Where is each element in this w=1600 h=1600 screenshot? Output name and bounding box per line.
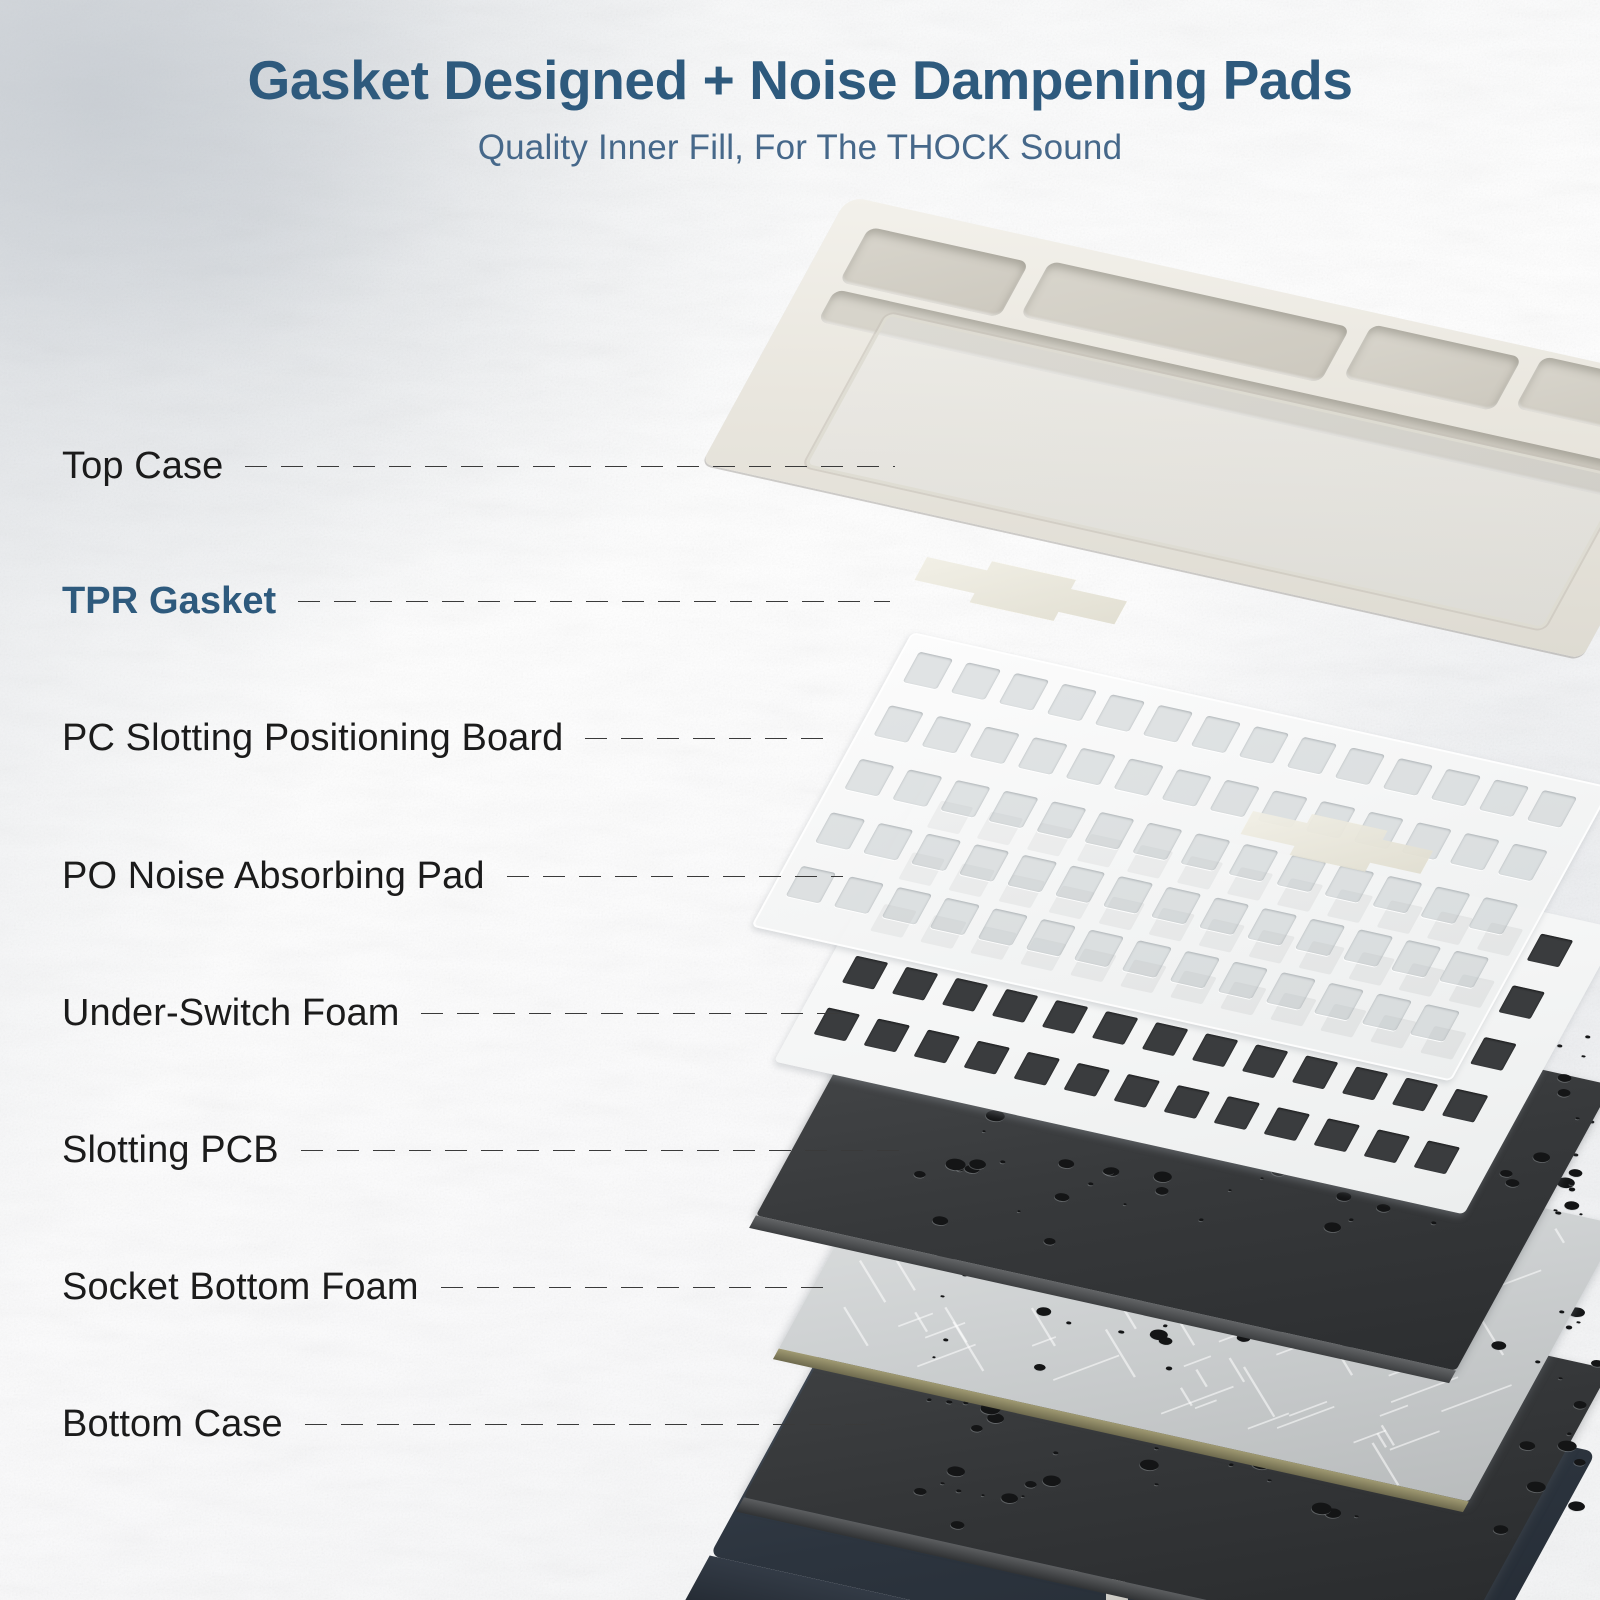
pcb-trace <box>1195 1369 1208 1387</box>
pcb-trace <box>1376 1433 1386 1448</box>
infographic-poster: Gasket Designed + Noise Dampening Pads Q… <box>0 0 1600 1600</box>
callout-label: Top Case <box>62 447 223 485</box>
switch-cutout <box>1132 822 1183 860</box>
switch-cutout <box>892 769 943 807</box>
switch-cutout <box>1449 833 1500 871</box>
callout-label: Socket Bottom Foam <box>62 1268 419 1306</box>
foam-hole <box>1566 1500 1587 1512</box>
callout-leader-line <box>585 738 828 739</box>
switch-cutout <box>1113 758 1164 796</box>
switch-cutout <box>1180 833 1231 871</box>
switch-cutout <box>1383 758 1434 796</box>
pcb-trace <box>859 1260 886 1302</box>
callout-tpr-gasket: TPR Gasket <box>62 575 890 627</box>
pad-cutout <box>1313 1118 1360 1152</box>
switch-cutout <box>1239 726 1290 764</box>
pad-cutout <box>863 1018 910 1052</box>
switch-cutout <box>1065 748 1116 786</box>
switch-cutout <box>1527 790 1578 828</box>
pcb-trace <box>1161 1386 1233 1415</box>
switch-cutout <box>844 759 895 797</box>
callout-leader-line <box>301 1150 908 1151</box>
switch-cutout <box>1199 897 1250 935</box>
switch-cutout <box>1084 812 1135 850</box>
switch-cutout <box>1209 780 1260 818</box>
switch-cutout <box>1047 684 1098 722</box>
switch-cutout <box>1228 844 1279 882</box>
callout-slotting-pcb: Slotting PCB <box>62 1124 908 1176</box>
switch-cutout <box>1170 951 1221 989</box>
switch-cutout <box>1314 983 1365 1021</box>
switch-cutout <box>1151 887 1202 925</box>
switch-cutout <box>1343 929 1394 967</box>
switch-cutout <box>978 908 1029 946</box>
exploded-keyboard-diagram: REDRAGON <box>0 0 1600 1600</box>
pad-cutout <box>1063 1063 1110 1097</box>
switch-cutout <box>930 898 981 936</box>
callout-bottom-case: Bottom Case <box>62 1398 885 1450</box>
foam-hole <box>1554 1211 1561 1215</box>
switch-cutout <box>882 887 933 925</box>
callout-leader-line <box>507 876 843 877</box>
pcb-trace <box>1441 1384 1512 1412</box>
switch-cutout <box>951 662 1002 700</box>
pad-cutout <box>1442 1089 1489 1123</box>
pcb-trace <box>1372 1442 1400 1485</box>
callout-leader-line <box>441 1287 831 1288</box>
switch-cutout <box>1036 801 1087 839</box>
switch-cutout <box>1007 855 1058 893</box>
switch-cutout <box>1497 843 1548 881</box>
switch-cutout <box>1431 769 1482 807</box>
switch-cutout <box>1055 865 1106 903</box>
switch-cutout <box>873 705 924 743</box>
switch-cutout <box>1095 694 1146 732</box>
foam-hole <box>1590 1359 1600 1368</box>
pad-cutout <box>1113 1074 1160 1108</box>
switch-cutout <box>1335 747 1386 785</box>
switch-cutout <box>921 716 972 754</box>
pcb-trace <box>844 1306 870 1346</box>
switch-cutout <box>1372 876 1423 914</box>
pcb-trace <box>1248 1413 1290 1430</box>
switch-cutout <box>959 844 1010 882</box>
callout-label: PO Noise Absorbing Pad <box>62 857 485 895</box>
pad-cutout <box>842 956 889 990</box>
switch-cutout <box>1247 908 1298 946</box>
switch-cutout <box>999 673 1050 711</box>
switch-cutout <box>1324 865 1375 903</box>
switch-cutout <box>1122 940 1173 978</box>
callout-socket-bottom-foam: Socket Bottom Foam <box>62 1261 831 1313</box>
pad-cutout <box>1213 1096 1260 1130</box>
switch-cutout <box>1410 1004 1461 1042</box>
callout-label: TPR Gasket <box>62 582 276 620</box>
pad-cutout <box>1163 1085 1210 1119</box>
callout-po-noise-absorbing-pad: PO Noise Absorbing Pad <box>62 850 843 902</box>
switch-cutout <box>988 791 1039 829</box>
pad-cutout <box>1263 1107 1310 1141</box>
pcb-trace <box>1380 1405 1408 1417</box>
pcb-trace <box>1229 1357 1246 1382</box>
pcb-trace <box>1390 1430 1440 1450</box>
callout-leader-line <box>421 1013 841 1014</box>
switch-cutout <box>1468 897 1519 935</box>
foam-hole <box>1579 1213 1583 1216</box>
callout-label: Under-Switch Foam <box>62 994 399 1032</box>
callout-leader-line <box>305 1424 885 1425</box>
switch-cutout <box>911 833 962 871</box>
switch-cutout <box>1439 950 1490 988</box>
switch-cutout <box>1017 737 1068 775</box>
switch-cutout <box>1266 972 1317 1010</box>
switch-cutout <box>1420 886 1471 924</box>
callout-label: Slotting PCB <box>62 1131 279 1169</box>
switch-cutout <box>1218 961 1269 999</box>
pad-cutout <box>1342 1067 1389 1101</box>
callout-leader-line <box>245 466 895 467</box>
switch-cutout <box>1161 769 1212 807</box>
callout-top-case: Top Case <box>62 440 895 492</box>
callout-under-switch-foam: Under-Switch Foam <box>62 987 841 1039</box>
switch-cutout <box>1191 715 1242 753</box>
callout-leader-line <box>298 601 890 602</box>
switch-cutout <box>1479 779 1530 817</box>
switch-cutout <box>1391 940 1442 978</box>
switch-cutout <box>903 652 954 690</box>
switch-cutout <box>940 780 991 818</box>
switch-cutout <box>1026 919 1077 957</box>
switch-cutout <box>863 823 914 861</box>
callout-pc-slotting-positioning-board: PC Slotting Positioning Board <box>62 712 828 764</box>
layer-top-case: REDRAGON <box>848 196 1600 626</box>
pad-cutout <box>1392 1078 1439 1112</box>
switch-cutout <box>1103 876 1154 914</box>
pad-cutout <box>1413 1140 1460 1174</box>
pcb-trace <box>1184 1356 1211 1368</box>
callout-label: PC Slotting Positioning Board <box>62 719 563 757</box>
switch-cutout <box>1295 919 1346 957</box>
switch-cutout <box>969 726 1020 764</box>
pad-cutout <box>1363 1129 1410 1163</box>
switch-cutout <box>1074 929 1125 967</box>
switch-cutout <box>1287 737 1338 775</box>
callout-label: Bottom Case <box>62 1405 283 1443</box>
switch-cutout <box>815 812 866 850</box>
pcb-trace <box>1053 1354 1120 1380</box>
pcb-trace <box>1243 1366 1276 1417</box>
switch-cutout <box>1362 993 1413 1031</box>
switch-cutout <box>1143 705 1194 743</box>
